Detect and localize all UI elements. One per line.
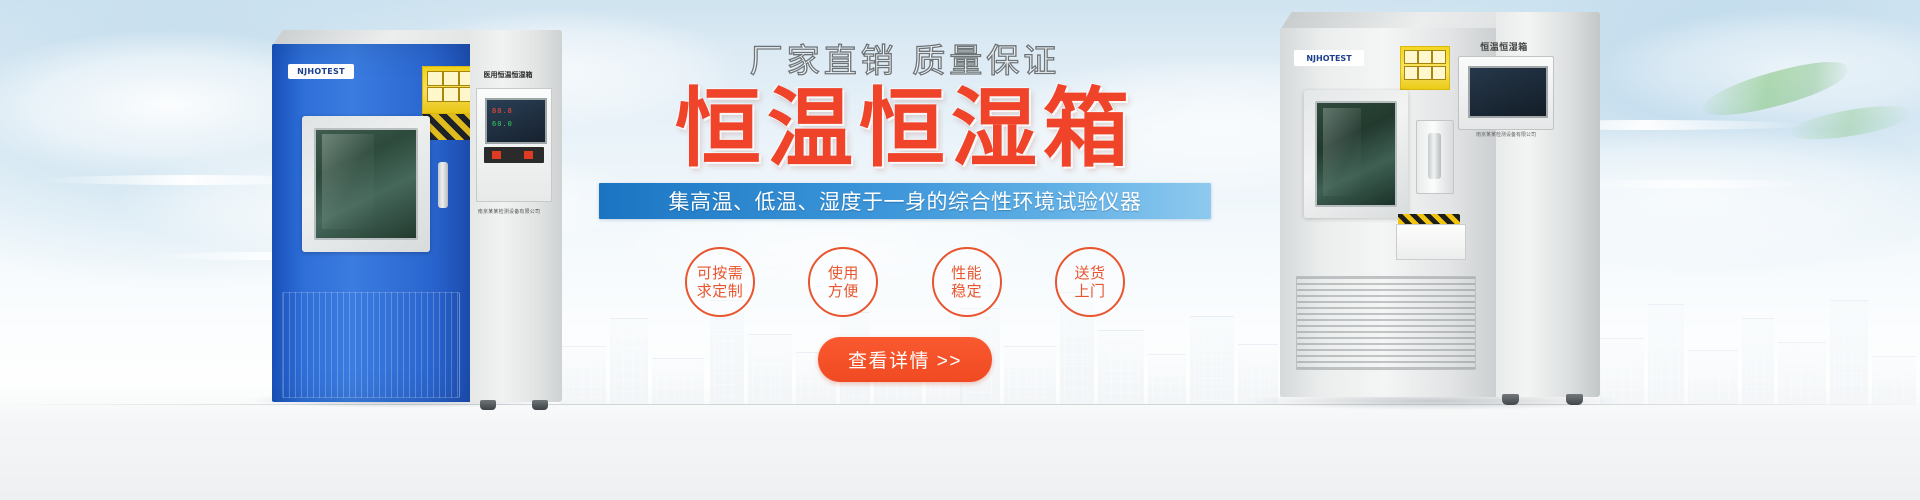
badge-line-1: 性能	[951, 264, 982, 282]
control-display-screen	[1468, 66, 1548, 118]
control-display-screen: 88.8 60.0	[485, 98, 547, 144]
page-title: 恒温恒湿箱	[575, 84, 1235, 175]
chamber-viewing-window	[1315, 101, 1397, 207]
chamber-front-body: NJHOTEST	[272, 44, 472, 402]
control-panel	[1458, 56, 1554, 130]
feature-badge-stable[interactable]: 性能 稳定	[932, 247, 1002, 317]
subtitle-bar: 集高温、低温、湿度于一身的综合性环境试验仪器	[599, 183, 1211, 219]
control-button-row	[484, 147, 544, 163]
chamber-lower-vent-panel	[1296, 276, 1476, 370]
control-panel: 88.8 60.0	[476, 88, 552, 202]
chamber-door-handle	[438, 162, 448, 208]
chamber-side-panel: 医用恒温恒湿箱 88.8 60.0 南京某某检测设备有限公司	[470, 30, 562, 402]
chamber-viewing-window	[314, 128, 418, 240]
banner-copy-block: 厂家直销 质量保证 恒温恒湿箱 集高温、低温、湿度于一身的综合性环境试验仪器 可…	[575, 42, 1235, 382]
feature-badge-easy-use[interactable]: 使用 方便	[808, 247, 878, 317]
spec-nameplate	[1396, 224, 1466, 260]
chamber-lower-vent-panel	[282, 292, 460, 398]
badge-line-2: 方便	[828, 282, 859, 300]
temperature-readout: 88.8	[492, 107, 513, 115]
chamber-door	[1304, 90, 1408, 218]
chamber-model-label: 医用恒温恒湿箱	[476, 70, 540, 82]
promo-banner: NJHOTEST 医用恒温恒湿箱 88.8 60.0	[0, 0, 1920, 500]
hazard-stripe-label	[1398, 214, 1460, 224]
product-image-left-chamber: NJHOTEST 医用恒温恒湿箱 88.8 60.0	[272, 30, 562, 402]
manufacturer-text: 南京某某检测设备有限公司	[474, 208, 544, 215]
chamber-door	[302, 116, 430, 252]
view-details-button[interactable]: 查看详情 >>	[818, 337, 992, 382]
badge-line-2: 稳定	[951, 282, 982, 300]
caster-wheel	[1502, 394, 1519, 405]
product-image-right-chamber: NJHOTEST 恒温恒湿箱 南京某某检测设备有限公司	[1280, 12, 1600, 397]
badge-line-2: 上门	[1074, 282, 1105, 300]
chamber-model-label: 恒温恒湿箱	[1456, 40, 1552, 54]
caster-wheel	[480, 400, 496, 410]
badge-line-1: 可按需	[697, 264, 744, 282]
badge-line-1: 使用	[828, 264, 859, 282]
chamber-door-handle	[1416, 120, 1454, 194]
manufacturer-text: 南京某某检测设备有限公司	[1460, 132, 1552, 140]
feature-badge-delivery[interactable]: 送货 上门	[1055, 247, 1125, 317]
safety-label-yellow	[1400, 46, 1450, 90]
brand-logo-plate: NJHOTEST	[1294, 50, 1364, 66]
caster-wheel	[532, 400, 548, 410]
tagline: 厂家直销 质量保证	[575, 42, 1235, 80]
feature-badge-custom[interactable]: 可按需 求定制	[685, 247, 755, 317]
humidity-readout: 60.0	[492, 120, 513, 128]
subtitle-text: 集高温、低温、湿度于一身的综合性环境试验仪器	[669, 186, 1142, 216]
brand-logo-plate: NJHOTEST	[288, 64, 354, 79]
badge-line-1: 送货	[1074, 264, 1105, 282]
caster-wheel	[1566, 394, 1583, 405]
feature-badge-list: 可按需 求定制 使用 方便 性能 稳定 送货 上门	[685, 247, 1125, 317]
cta-container: 查看详情 >>	[575, 337, 1235, 382]
badge-line-2: 求定制	[697, 282, 744, 300]
chamber-side-panel: 恒温恒湿箱 南京某某检测设备有限公司	[1496, 12, 1600, 397]
